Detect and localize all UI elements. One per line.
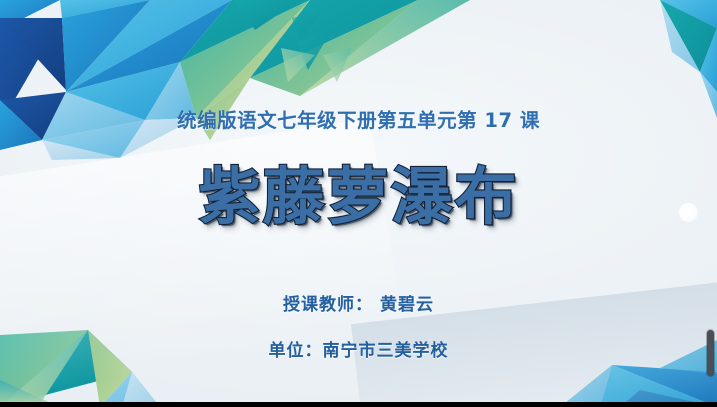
school-credit-line: 单位：南宁市三美学校 bbox=[0, 336, 717, 361]
presentation-slide: 统编版语文七年级下册第五单元第 17 课 紫藤萝瀑布 授课教师： 黄碧云 单位：… bbox=[0, 0, 717, 407]
teacher-credit-line: 授课教师： 黄碧云 bbox=[0, 290, 717, 315]
bottom-letterbox-bar bbox=[0, 402, 717, 407]
slide-main-title: 紫藤萝瀑布 bbox=[0, 166, 717, 228]
slide-text-content: 统编版语文七年级下册第五单元第 17 课 紫藤萝瀑布 授课教师： 黄碧云 单位：… bbox=[0, 0, 717, 407]
vertical-scrollbar-thumb[interactable] bbox=[707, 330, 714, 376]
course-subtitle: 统编版语文七年级下册第五单元第 17 课 bbox=[0, 104, 717, 133]
